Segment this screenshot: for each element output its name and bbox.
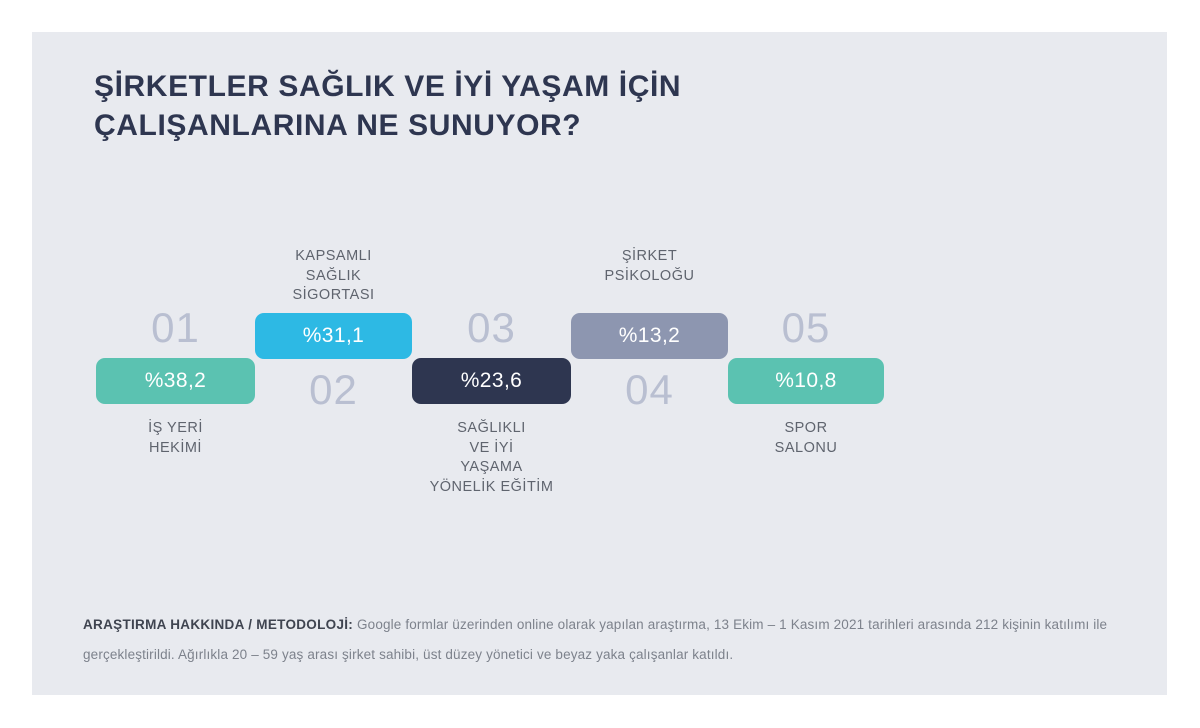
rank-label-05: 05 xyxy=(728,307,884,349)
bar-segment-04: %13,2 xyxy=(571,313,728,359)
bar-segment-01: %38,2 xyxy=(96,358,255,404)
caption-04: ŞİRKET PSİKOLOĞU xyxy=(561,247,738,286)
rank-label-03: 03 xyxy=(412,307,571,349)
caption-03: SAĞLIKLI VE İYİ YAŞAMA YÖNELİK EĞİTİM xyxy=(402,419,581,497)
methodology-footer: ARAŞTIRMA HAKKINDA / METODOLOJİ: Google … xyxy=(83,610,1123,670)
bar-value-02: %31,1 xyxy=(303,325,365,346)
caption-02: KAPSAMLI SAĞLIK SİGORTASI xyxy=(245,247,422,306)
bar-chart: %38,2 01 İŞ YERİ HEKİMİ %31,1 02 KAPSAML… xyxy=(32,32,1167,695)
bar-value-05: %10,8 xyxy=(775,370,837,391)
bar-segment-02: %31,1 xyxy=(255,313,412,359)
caption-01: İŞ YERİ HEKİMİ xyxy=(86,419,265,458)
bar-value-03: %23,6 xyxy=(461,370,523,391)
rank-label-02: 02 xyxy=(255,369,412,411)
infographic-card: ŞİRKETLER SAĞLIK VE İYİ YAŞAM İÇİN ÇALIŞ… xyxy=(32,32,1167,695)
rank-label-04: 04 xyxy=(571,369,728,411)
bar-segment-05: %10,8 xyxy=(728,358,884,404)
bar-value-04: %13,2 xyxy=(619,325,681,346)
rank-label-01: 01 xyxy=(96,307,255,349)
bar-value-01: %38,2 xyxy=(145,370,207,391)
bar-segment-03: %23,6 xyxy=(412,358,571,404)
caption-05: SPOR SALONU xyxy=(718,419,894,458)
methodology-label: ARAŞTIRMA HAKKINDA / METODOLOJİ: xyxy=(83,617,353,632)
